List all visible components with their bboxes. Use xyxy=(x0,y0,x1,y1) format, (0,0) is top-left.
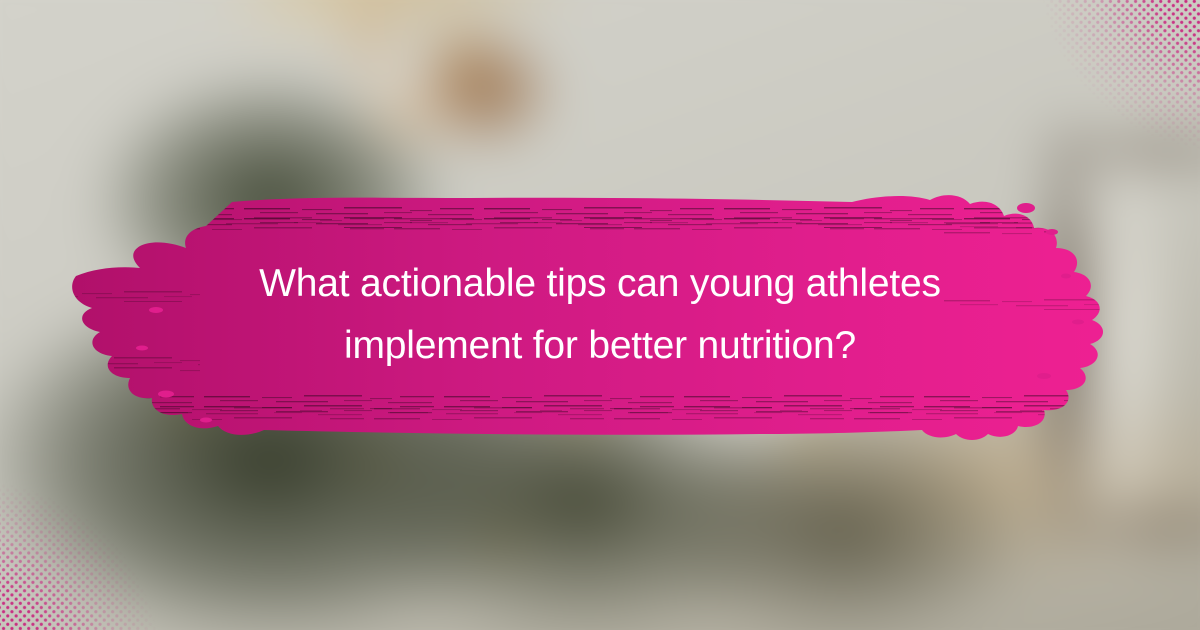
brush-stroke-banner xyxy=(0,180,1200,450)
social-share-card: What actionable tips can young athletes … xyxy=(0,0,1200,630)
